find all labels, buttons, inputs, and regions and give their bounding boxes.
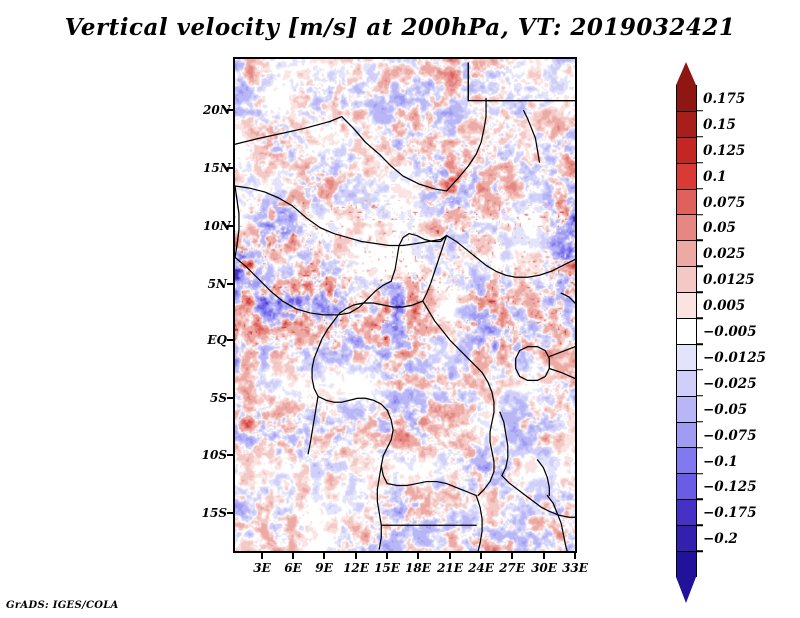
country-borders-overlay bbox=[235, 59, 575, 551]
ytick-label-15N: 15N bbox=[203, 161, 227, 175]
xtick-mark bbox=[292, 553, 294, 559]
colorbar-tick bbox=[697, 395, 703, 397]
xtick-label-6E: 6E bbox=[284, 561, 302, 575]
xtick-mark bbox=[449, 553, 451, 559]
colorbar-label: 0.125 bbox=[703, 143, 745, 159]
xtick-mark bbox=[574, 553, 576, 559]
ytick-mark bbox=[227, 283, 233, 285]
colorbar-label: 0.175 bbox=[703, 91, 745, 107]
colorbar-band bbox=[676, 292, 697, 318]
colorbar-band bbox=[676, 214, 697, 240]
ytick-label-15S: 15S bbox=[199, 506, 227, 520]
colorbar-label: −0.075 bbox=[703, 428, 757, 444]
xtick-label-12E: 12E bbox=[343, 561, 369, 575]
colorbar-band bbox=[676, 422, 697, 448]
colorbar-tick bbox=[697, 188, 703, 190]
colorbar-band bbox=[676, 473, 697, 499]
colorbar-tick bbox=[697, 550, 703, 552]
xtick-mark bbox=[480, 553, 482, 559]
ytick-label-10N: 10N bbox=[203, 219, 227, 233]
colorbar bbox=[676, 85, 697, 577]
ytick-mark bbox=[227, 397, 233, 399]
colorbar-label: 0.15 bbox=[703, 117, 736, 133]
xtick-label-24E: 24E bbox=[468, 561, 494, 575]
colorbar-band bbox=[676, 163, 697, 189]
xtick-label-3E: 3E bbox=[253, 561, 271, 575]
colorbar-tick bbox=[697, 136, 703, 138]
ytick-mark bbox=[227, 512, 233, 514]
xtick-mark bbox=[417, 553, 419, 559]
xtick-mark bbox=[386, 553, 388, 559]
colorbar-label: 0.0125 bbox=[703, 272, 755, 288]
colorbar-band bbox=[676, 525, 697, 551]
colorbar-label: 0.025 bbox=[703, 246, 745, 262]
ytick-label-5S: 5S bbox=[203, 391, 227, 405]
colorbar-tick bbox=[697, 317, 703, 319]
xtick-label-33E: 33E bbox=[562, 561, 588, 575]
colorbar-label: −0.2 bbox=[703, 531, 738, 547]
colorbar-band bbox=[676, 551, 697, 577]
colorbar-tick bbox=[697, 240, 703, 242]
colorbar-tick bbox=[697, 473, 703, 475]
colorbar-label: 0.05 bbox=[703, 220, 736, 236]
colorbar-band bbox=[676, 344, 697, 370]
colorbar-label: −0.05 bbox=[703, 402, 747, 418]
colorbar-tick bbox=[697, 266, 703, 268]
ytick-mark bbox=[227, 339, 233, 341]
colorbar-tick bbox=[697, 421, 703, 423]
colorbar-tick bbox=[697, 214, 703, 216]
colorbar-label: 0.1 bbox=[703, 169, 727, 185]
colorbar-band bbox=[676, 499, 697, 525]
colorbar-band bbox=[676, 447, 697, 473]
xtick-mark bbox=[511, 553, 513, 559]
colorbar-tick bbox=[697, 291, 703, 293]
xtick-mark bbox=[543, 553, 545, 559]
colorbar-band bbox=[676, 137, 697, 163]
xtick-label-27E: 27E bbox=[499, 561, 525, 575]
colorbar-tick bbox=[697, 499, 703, 501]
colorbar-tick bbox=[697, 369, 703, 371]
colorbar-band bbox=[676, 396, 697, 422]
ytick-mark bbox=[227, 454, 233, 456]
grads-attribution: GrADS: IGES/COLA bbox=[6, 600, 119, 611]
xtick-label-18E: 18E bbox=[405, 561, 431, 575]
xtick-label-15E: 15E bbox=[374, 561, 400, 575]
map-plot-area bbox=[233, 57, 577, 553]
colorbar-tick bbox=[697, 343, 703, 345]
ytick-label-10S: 10S bbox=[199, 448, 227, 462]
xtick-mark bbox=[323, 553, 325, 559]
colorbar-label: −0.175 bbox=[703, 505, 757, 521]
colorbar-label: −0.1 bbox=[703, 454, 738, 470]
colorbar-tick bbox=[697, 162, 703, 164]
ytick-label-EQ: EQ bbox=[203, 333, 227, 347]
colorbar-tick bbox=[697, 110, 703, 112]
colorbar-label: −0.0125 bbox=[703, 350, 766, 366]
colorbar-tick bbox=[697, 525, 703, 527]
colorbar-under-arrow-icon bbox=[676, 577, 696, 603]
colorbar-tick bbox=[697, 447, 703, 449]
colorbar-band bbox=[676, 189, 697, 215]
colorbar-band bbox=[676, 318, 697, 344]
colorbar-band bbox=[676, 370, 697, 396]
colorbar-label: −0.005 bbox=[703, 324, 757, 340]
colorbar-over-arrow-icon bbox=[676, 62, 696, 85]
colorbar-label: 0.005 bbox=[703, 298, 745, 314]
page-title: Vertical velocity [m/s] at 200hPa, VT: 2… bbox=[0, 14, 800, 41]
colorbar-label: −0.025 bbox=[703, 376, 757, 392]
xtick-label-9E: 9E bbox=[315, 561, 333, 575]
ytick-label-5N: 5N bbox=[203, 277, 227, 291]
xtick-label-30E: 30E bbox=[531, 561, 557, 575]
colorbar-band bbox=[676, 111, 697, 137]
ytick-label-20N: 20N bbox=[203, 103, 227, 117]
xtick-label-21E: 21E bbox=[437, 561, 463, 575]
xtick-mark bbox=[261, 553, 263, 559]
xtick-mark bbox=[355, 553, 357, 559]
colorbar-label: 0.075 bbox=[703, 195, 745, 211]
colorbar-band bbox=[676, 85, 697, 111]
colorbar-band bbox=[676, 240, 697, 266]
colorbar-label: −0.125 bbox=[703, 479, 757, 495]
colorbar-band bbox=[676, 266, 697, 292]
